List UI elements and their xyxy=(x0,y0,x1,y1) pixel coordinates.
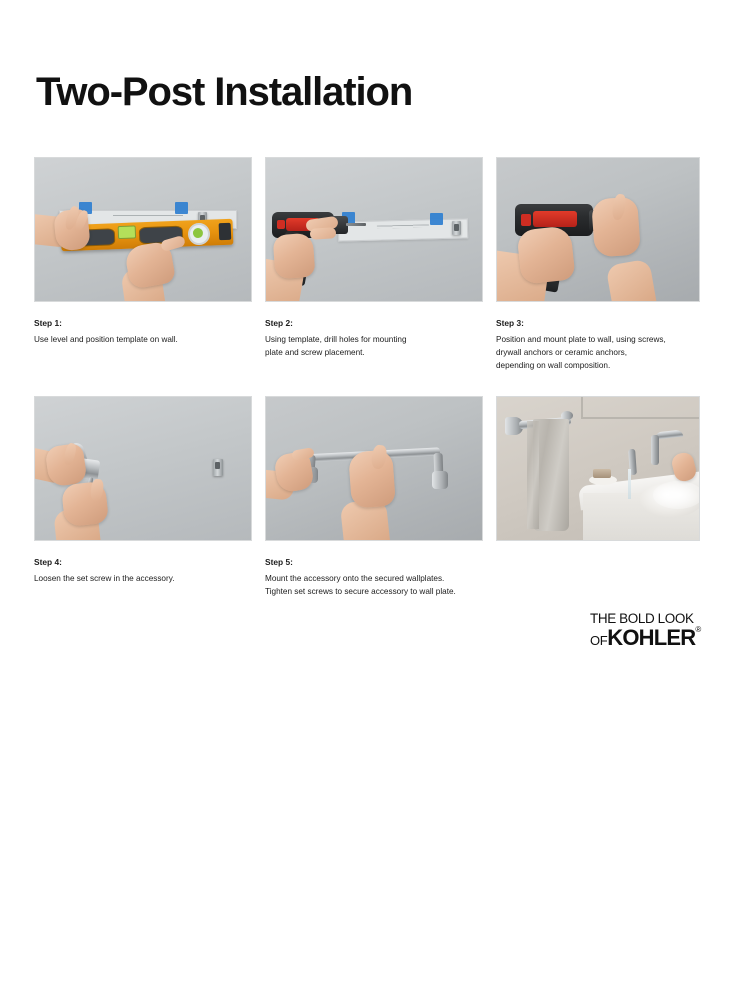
level-end-cap xyxy=(219,223,232,240)
towel-fold xyxy=(527,421,539,529)
blue-tape-right xyxy=(175,202,188,214)
caption-step-5: Step 5: Mount the accessory onto the sec… xyxy=(265,556,483,598)
caption-step-1: Step 1: Use level and position template … xyxy=(34,317,252,346)
caption-step-4: Step 4: Loosen the set screw in the acce… xyxy=(34,556,252,585)
step-label-3: Step 3: xyxy=(496,317,700,331)
level-vial-round xyxy=(188,223,211,246)
photo-step-4-loosen-set-screw xyxy=(34,396,252,541)
step-cell-5: Step 5: Mount the accessory onto the sec… xyxy=(265,396,483,598)
step-text-5-line-2: Tighten set screws to secure accessory t… xyxy=(265,585,483,598)
photo-step-2-drill-template xyxy=(265,157,483,302)
wallplate-right xyxy=(452,221,461,235)
step-text-4-line-1: Loosen the set screw in the accessory. xyxy=(34,572,252,585)
step-label-5: Step 5: xyxy=(265,556,483,570)
paper-template xyxy=(338,218,468,241)
wallplate-right xyxy=(432,471,448,489)
blue-tape-right xyxy=(430,213,443,225)
drill-accent-panel xyxy=(533,211,577,227)
logo-of-text: OF xyxy=(590,633,607,648)
hand-gripping-drill xyxy=(516,225,575,284)
template-print xyxy=(113,215,183,218)
logo-tagline: THE BOLD LOOK xyxy=(590,612,700,626)
mirror-edge xyxy=(581,397,583,419)
step-label-4: Step 4: xyxy=(34,556,252,570)
caption-step-3: Step 3: Position and mount plate to wall… xyxy=(496,317,700,372)
mirror-bottom-edge xyxy=(581,417,700,419)
finished-scene-cell: KOHLER® accessories make it easy for eve… xyxy=(496,396,700,541)
template-print xyxy=(377,224,428,228)
soap-bar xyxy=(593,469,611,478)
logo-brand-text: KOHLER xyxy=(607,625,695,650)
drill-accent-vent xyxy=(521,214,531,226)
step-text-5-line-1: Mount the accessory onto the secured wal… xyxy=(265,572,483,585)
step-text-3-line-1: Position and mount plate to wall, using … xyxy=(496,333,700,346)
mounted-wallplate xyxy=(213,459,223,476)
step-text-3-line-3: depending on wall composition. xyxy=(496,359,700,372)
step-text-2-line-1: Using template, drill holes for mounting xyxy=(265,333,483,346)
step-cell-4: Step 4: Loosen the set screw in the acce… xyxy=(34,396,252,585)
step-label-1: Step 1: xyxy=(34,317,252,331)
water-stream xyxy=(628,469,631,499)
photo-step-3-mount-plate xyxy=(496,157,700,302)
step-cell-3: Step 3: Position and mount plate to wall… xyxy=(496,157,700,372)
instruction-sheet: Two-Post Installation xyxy=(0,0,736,736)
drill-bit xyxy=(346,223,366,226)
page-title: Two-Post Installation xyxy=(36,72,412,112)
step-text-1-line-1: Use level and position template on wall. xyxy=(34,333,252,346)
level-vial xyxy=(118,225,136,239)
caption-step-2: Step 2: Using template, drill holes for … xyxy=(265,317,483,359)
logo-registered-mark: ® xyxy=(695,625,701,634)
step-label-2: Step 2: xyxy=(265,317,483,331)
logo-wordmark: OFKOHLER® xyxy=(590,626,700,650)
faucet-body xyxy=(651,435,659,465)
photo-step-1-level-template xyxy=(34,157,252,302)
step-cell-1: Step 1: Use level and position template … xyxy=(34,157,252,346)
step-cell-2: Step 2: Using template, drill holes for … xyxy=(265,157,483,359)
photo-finished-bathroom xyxy=(496,396,700,541)
hand-gripping-drill xyxy=(273,233,316,280)
step-text-3-line-2: drywall anchors or ceramic anchors, xyxy=(496,346,700,359)
step-text-2-line-2: plate and screw placement. xyxy=(265,346,483,359)
photo-step-5-mount-accessory xyxy=(265,396,483,541)
middle-finger xyxy=(310,227,337,240)
kohler-logo: THE BOLD LOOK OFKOHLER® xyxy=(590,612,700,650)
water-splash xyxy=(653,481,700,509)
drill-accent-vent xyxy=(277,220,285,229)
